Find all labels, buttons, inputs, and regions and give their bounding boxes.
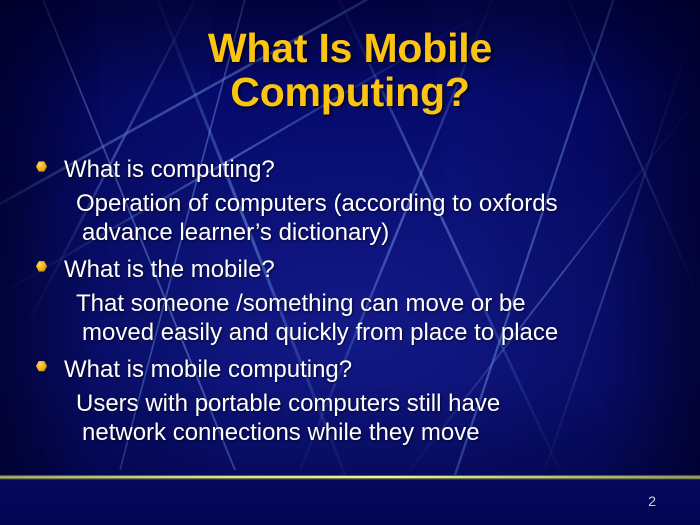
bullet-detail: Operation of computers (according to oxf… — [80, 190, 666, 248]
bullet-detail-line: network connections while they move — [80, 419, 666, 448]
slide-number: 2 — [648, 493, 656, 509]
slide-title: What Is Mobile Computing? — [0, 26, 700, 115]
slide-body: What is computing? Operation of computer… — [36, 152, 666, 451]
bullet-item: What is the mobile? — [36, 252, 666, 288]
bullet-detail-line: Operation of computers (according to oxf… — [76, 190, 558, 217]
bullet-detail-line: That someone /something can move or be — [76, 290, 526, 317]
bullet-heading: What is mobile computing? — [64, 352, 352, 388]
bullet-heading: What is computing? — [64, 152, 275, 188]
slide-footer — [0, 480, 700, 525]
hexagon-bullet-icon — [36, 352, 64, 372]
hexagon-bullet-icon — [36, 252, 64, 272]
footer-divider-highlight — [0, 476, 700, 478]
bullet-detail-line: Users with portable computers still have — [76, 390, 500, 417]
presentation-slide: What Is Mobile Computing? What is comput… — [0, 0, 700, 525]
bullet-detail: That someone /something can move or be m… — [80, 290, 666, 348]
bullet-heading: What is the mobile? — [64, 252, 275, 288]
hexagon-bullet-icon — [36, 152, 64, 172]
bullet-detail-line: advance learner’s dictionary) — [80, 219, 666, 248]
bullet-detail-line: moved easily and quickly from place to p… — [80, 319, 666, 348]
bullet-item: What is computing? — [36, 152, 666, 188]
slide-title-line-2: Computing? — [40, 70, 660, 114]
slide-title-line-1: What Is Mobile — [40, 26, 660, 70]
bullet-item: What is mobile computing? — [36, 352, 666, 388]
bullet-detail: Users with portable computers still have… — [80, 390, 666, 448]
